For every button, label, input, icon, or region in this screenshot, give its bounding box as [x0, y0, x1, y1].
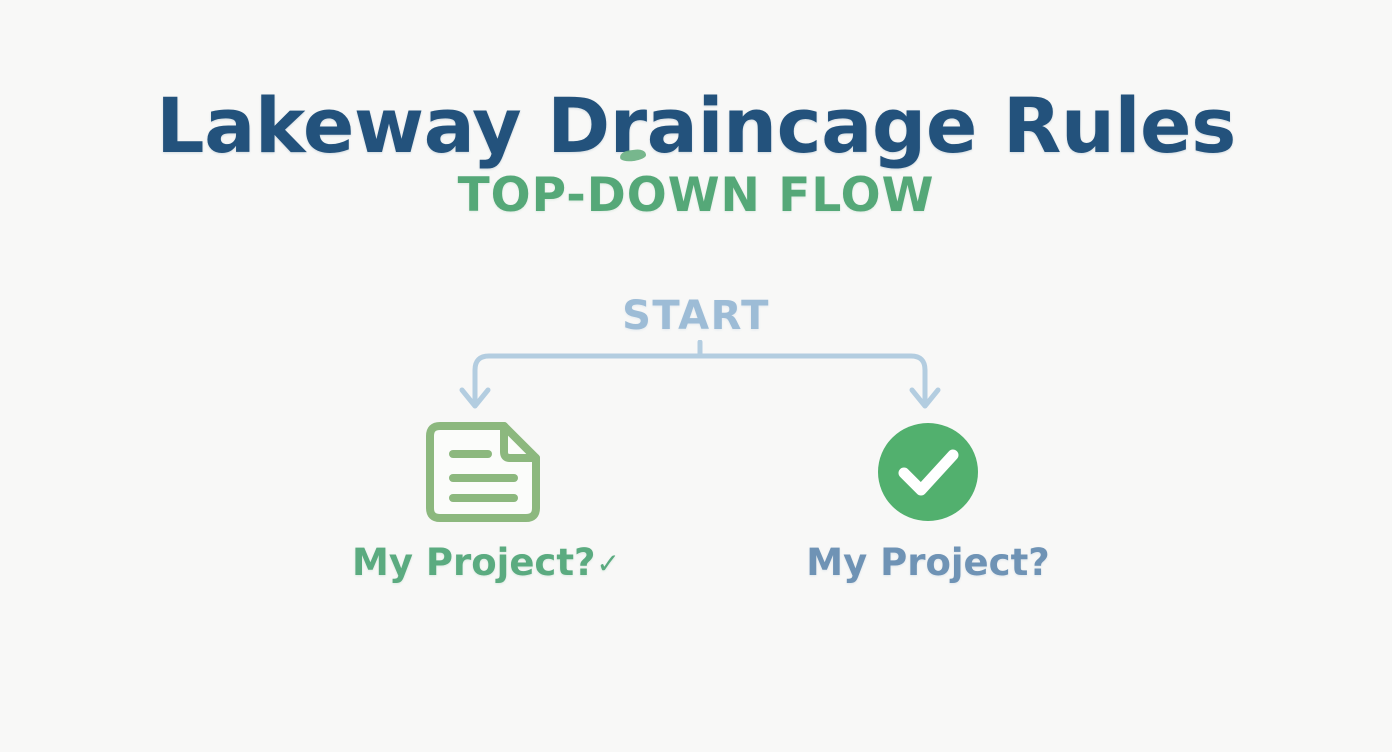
- flow-connector: [440, 340, 960, 430]
- check-mark-glyph: ✓: [597, 547, 620, 580]
- start-label: START: [0, 296, 1392, 336]
- flow-node-document[interactable]: My Project?✓: [336, 418, 636, 581]
- document-icon: [424, 421, 548, 523]
- connector-arrowhead-left: [462, 390, 488, 406]
- page-subtitle: TOP-DOWN FLOW: [0, 172, 1392, 219]
- flow-node-check[interactable]: My Project?: [778, 418, 1078, 581]
- flow-node-label-check-text: My Project?: [806, 541, 1049, 584]
- page-title-text: Lakeway Draincage Rules: [156, 81, 1236, 170]
- page-title: Lakeway Draincage Rules: [156, 88, 1236, 164]
- subtitle-block: TOP-DOWN FLOW: [0, 172, 1392, 219]
- connector-bracket: [475, 356, 925, 402]
- start-block: START: [0, 296, 1392, 336]
- document-icon-wrap: [336, 418, 636, 526]
- title-block: Lakeway Draincage Rules: [0, 88, 1392, 164]
- document-page-outline: [430, 426, 536, 518]
- check-circle-background: [878, 423, 978, 521]
- connector-arrowhead-right: [912, 390, 938, 406]
- slide-canvas: Lakeway Draincage Rules TOP-DOWN FLOW ST…: [0, 0, 1392, 752]
- check-circle-icon-wrap: [778, 418, 1078, 526]
- flow-node-label-document: My Project?✓: [336, 544, 636, 581]
- flow-node-label-check: My Project?: [778, 544, 1078, 581]
- check-circle-icon: [876, 421, 980, 523]
- flow-node-label-document-text: My Project?: [352, 541, 595, 584]
